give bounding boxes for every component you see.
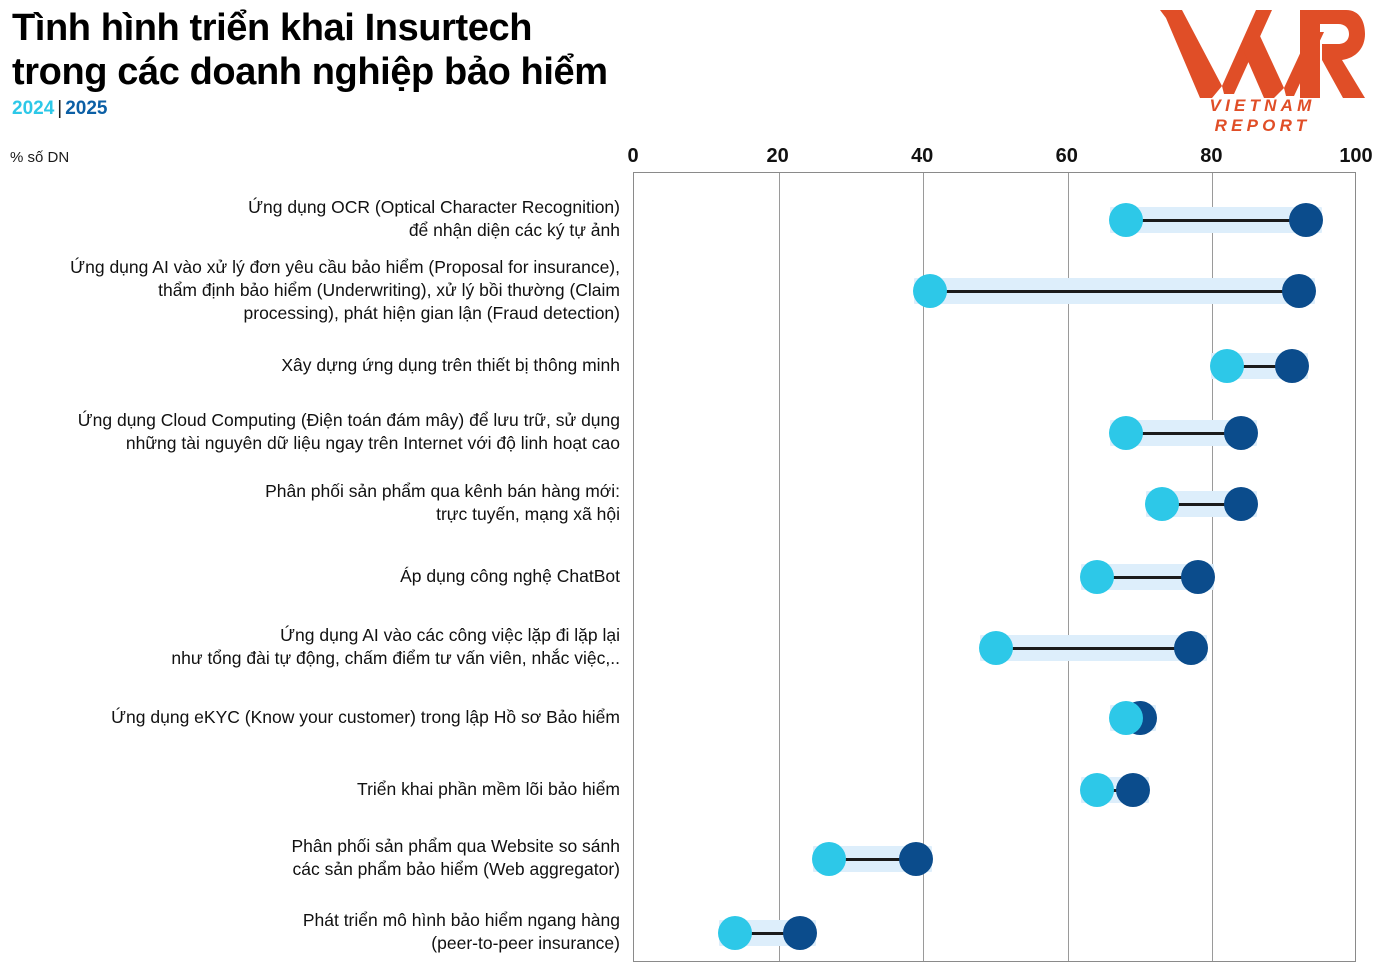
x-axis-tick-60: 60 xyxy=(1056,145,1078,168)
category-label: Ứng dụng AI vào xử lý đơn yêu cầu bảo hi… xyxy=(0,256,620,325)
x-axis-tick-20: 20 xyxy=(766,145,788,168)
x-axis-tick-80: 80 xyxy=(1200,145,1222,168)
data-point-2025 xyxy=(1289,203,1323,237)
data-point-2025 xyxy=(1181,560,1215,594)
vietnam-report-logo: VIETNAM REPORT xyxy=(1160,8,1365,128)
chart-plot-area xyxy=(633,172,1356,962)
category-label: Ứng dụng Cloud Computing (Điện toán đám … xyxy=(0,409,620,455)
data-point-2024 xyxy=(1080,773,1114,807)
category-label-line: Phân phối sản phẩm qua kênh bán hàng mới… xyxy=(0,480,620,503)
vnr-logo-icon xyxy=(1160,8,1365,98)
data-point-2025 xyxy=(899,842,933,876)
row-arrow-shaft xyxy=(747,932,786,935)
page-title-line1: Tình hình triển khai Insurtech xyxy=(12,6,1112,50)
category-label-line: Phát triển mô hình bảo hiểm ngang hàng xyxy=(0,909,620,932)
data-point-2024 xyxy=(979,631,1013,665)
category-label-line: trực tuyến, mạng xã hội xyxy=(0,503,620,526)
category-label-line: Ứng dụng eKYC (Know your customer) trong… xyxy=(0,706,620,729)
category-label-line: (peer-to-peer insurance) xyxy=(0,932,620,955)
row-arrow-shaft xyxy=(1109,576,1184,579)
x-axis-tick-40: 40 xyxy=(911,145,933,168)
x-axis-ticks: 020406080100 xyxy=(0,145,1379,171)
data-point-2024 xyxy=(1109,701,1143,735)
category-label: Phân phối sản phẩm qua kênh bán hàng mới… xyxy=(0,480,620,526)
category-label: Phân phối sản phẩm qua Website so sánhcá… xyxy=(0,835,620,881)
row-arrow-shaft xyxy=(841,858,902,861)
category-label-line: Ứng dụng Cloud Computing (Điện toán đám … xyxy=(0,409,620,432)
data-point-2024 xyxy=(718,916,752,950)
category-label-line: Áp dụng công nghệ ChatBot xyxy=(0,565,620,588)
legend-item-2025: 2025 xyxy=(65,98,107,119)
gridline-20 xyxy=(779,173,780,961)
category-label-line: processing), phát hiện gian lận (Fraud d… xyxy=(0,302,620,325)
data-point-2025 xyxy=(1116,773,1150,807)
chart-legend: 2024|2025 xyxy=(12,99,1112,119)
category-label-line: Ứng dụng AI vào các công việc lặp đi lặp… xyxy=(0,624,620,647)
title-block: Tình hình triển khai Insurtech trong các… xyxy=(12,6,1112,119)
category-label: Triển khai phần mềm lõi bảo hiểm xyxy=(0,778,620,801)
category-label-line: thẩm định bảo hiểm (Underwriting), xử lý… xyxy=(0,279,620,302)
logo-wordmark: VIETNAM REPORT xyxy=(1160,96,1365,136)
row-arrow-shaft xyxy=(1138,219,1293,222)
category-label: Phát triển mô hình bảo hiểm ngang hàng(p… xyxy=(0,909,620,955)
data-point-2025 xyxy=(1224,487,1258,521)
row-arrow-shaft xyxy=(1008,647,1177,650)
category-label-column: Ứng dụng OCR (Optical Character Recognit… xyxy=(0,172,628,962)
x-axis-tick-0: 0 xyxy=(627,145,638,168)
row-arrow-shaft xyxy=(1239,365,1278,368)
data-point-2025 xyxy=(783,916,817,950)
row-arrow-shaft xyxy=(1174,503,1228,506)
category-label-line: để nhận diện các ký tự ảnh xyxy=(0,219,620,242)
data-point-2025 xyxy=(1282,274,1316,308)
legend-item-2024: 2024 xyxy=(12,98,54,119)
data-point-2024 xyxy=(1210,349,1244,383)
category-label: Ứng dụng OCR (Optical Character Recognit… xyxy=(0,196,620,242)
category-label: Áp dụng công nghệ ChatBot xyxy=(0,565,620,588)
data-point-2025 xyxy=(1224,416,1258,450)
data-point-2024 xyxy=(812,842,846,876)
data-point-2025 xyxy=(1174,631,1208,665)
data-point-2024 xyxy=(1145,487,1179,521)
category-label: Ứng dụng eKYC (Know your customer) trong… xyxy=(0,706,620,729)
data-point-2025 xyxy=(1275,349,1309,383)
chart-header: Tình hình triển khai Insurtech trong các… xyxy=(0,0,1379,150)
row-arrow-shaft xyxy=(1138,432,1228,435)
category-label: Ứng dụng AI vào các công việc lặp đi lặp… xyxy=(0,624,620,670)
data-point-2024 xyxy=(1080,560,1114,594)
row-arrow-shaft xyxy=(942,290,1285,293)
category-label-line: Triển khai phần mềm lõi bảo hiểm xyxy=(0,778,620,801)
data-point-2024 xyxy=(1109,203,1143,237)
category-label-line: như tổng đài tự động, chấm điểm tư vấn v… xyxy=(0,647,620,670)
category-label-line: Phân phối sản phẩm qua Website so sánh xyxy=(0,835,620,858)
legend-separator: | xyxy=(54,98,65,119)
category-label-line: Ứng dụng AI vào xử lý đơn yêu cầu bảo hi… xyxy=(0,256,620,279)
category-label: Xây dựng ứng dụng trên thiết bị thông mi… xyxy=(0,354,620,377)
x-axis-tick-100: 100 xyxy=(1339,145,1372,168)
category-label-line: các sản phẩm bảo hiểm (Web aggregator) xyxy=(0,858,620,881)
data-point-2024 xyxy=(913,274,947,308)
data-point-2024 xyxy=(1109,416,1143,450)
category-label-line: những tài nguyên dữ liệu ngay trên Inter… xyxy=(0,432,620,455)
page-title-line2: trong các doanh nghiệp bảo hiểm xyxy=(12,50,1112,94)
category-label-line: Xây dựng ứng dụng trên thiết bị thông mi… xyxy=(0,354,620,377)
category-label-line: Ứng dụng OCR (Optical Character Recognit… xyxy=(0,196,620,219)
